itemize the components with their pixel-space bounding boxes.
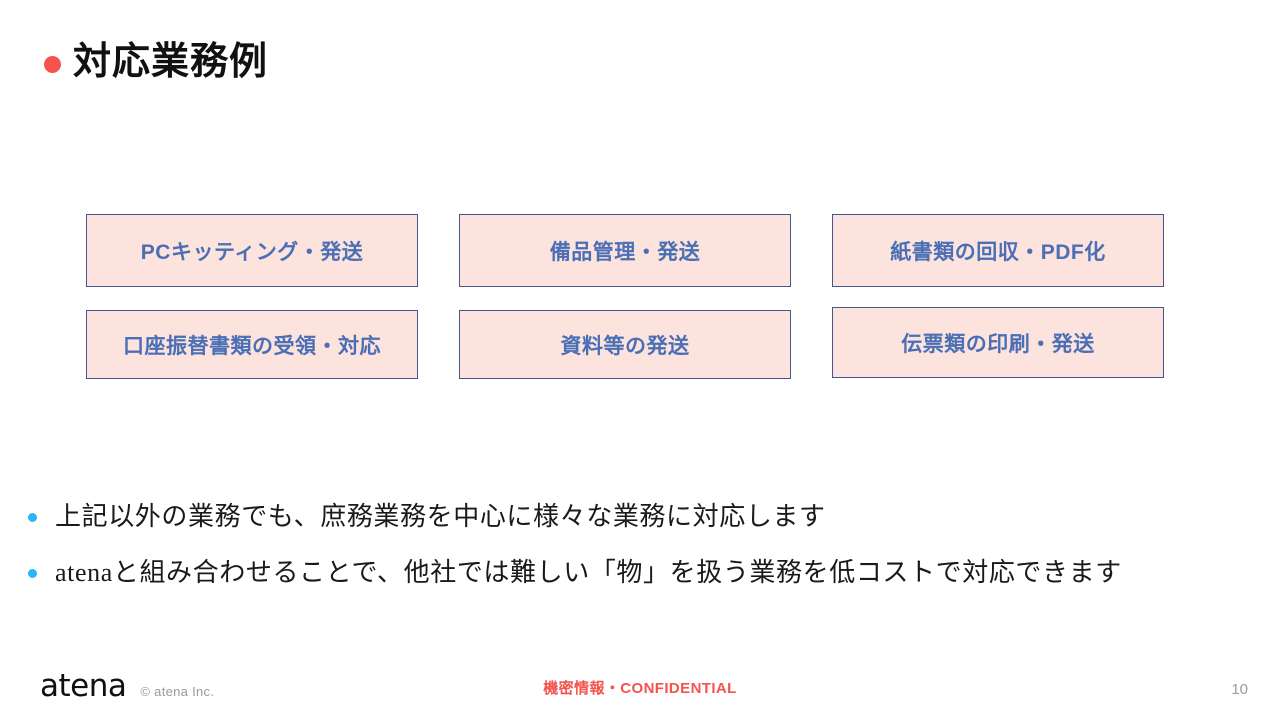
service-box-row-2: 口座振替書類の受領・対応 資料等の発送 伝票類の印刷・発送 (86, 310, 1164, 379)
page-number: 10 (1231, 681, 1248, 698)
bullet-dot-icon (28, 569, 37, 578)
service-box-direct-debit-documents[interactable]: 口座振替書類の受領・対応 (86, 310, 418, 379)
slide-footer: atena © atena Inc. 機密情報・CONFIDENTIAL 10 (0, 656, 1280, 720)
page-title: 対応業務例 (73, 42, 268, 84)
service-box-label: 口座振替書類の受領・対応 (123, 330, 381, 360)
service-box-pc-kitting[interactable]: PCキッティング・発送 (86, 214, 418, 287)
service-box-slip-printing-shipping[interactable]: 伝票類の印刷・発送 (832, 307, 1164, 378)
service-box-label: 伝票類の印刷・発送 (901, 328, 1095, 358)
service-box-label: 紙書類の回収・PDF化 (890, 236, 1106, 266)
service-box-row-1: PCキッティング・発送 備品管理・発送 紙書類の回収・PDF化 (86, 214, 1164, 287)
service-box-label: 資料等の発送 (561, 330, 690, 360)
note-text: atenaと組み合わせることで、他社では難しい「物」を扱う業務を低コストで対応で… (55, 554, 1122, 592)
list-item: 上記以外の業務でも、庶務業務を中心に様々な業務に対応します (28, 498, 1228, 536)
service-box-equipment-management[interactable]: 備品管理・発送 (459, 214, 791, 287)
bullet-dot-icon (28, 513, 37, 522)
service-box-label: 備品管理・発送 (550, 236, 701, 266)
service-box-document-shipping[interactable]: 資料等の発送 (459, 310, 791, 379)
notes-list: 上記以外の業務でも、庶務業務を中心に様々な業務に対応します atenaと組み合わ… (28, 498, 1228, 609)
list-item: atenaと組み合わせることで、他社では難しい「物」を扱う業務を低コストで対応で… (28, 554, 1228, 592)
title-bullet-icon (44, 56, 61, 73)
note-text: 上記以外の業務でも、庶務業務を中心に様々な業務に対応します (55, 498, 826, 536)
service-box-label: PCキッティング・発送 (141, 236, 363, 266)
service-box-paper-collection-pdf[interactable]: 紙書類の回収・PDF化 (832, 214, 1164, 287)
service-box-grid: PCキッティング・発送 備品管理・発送 紙書類の回収・PDF化 口座振替書類の受… (86, 214, 1164, 379)
slide-title-row: 対応業務例 (44, 42, 268, 84)
confidential-notice: 機密情報・CONFIDENTIAL (0, 677, 1280, 698)
slide: 対応業務例 PCキッティング・発送 備品管理・発送 紙書類の回収・PDF化 口座… (0, 0, 1280, 720)
